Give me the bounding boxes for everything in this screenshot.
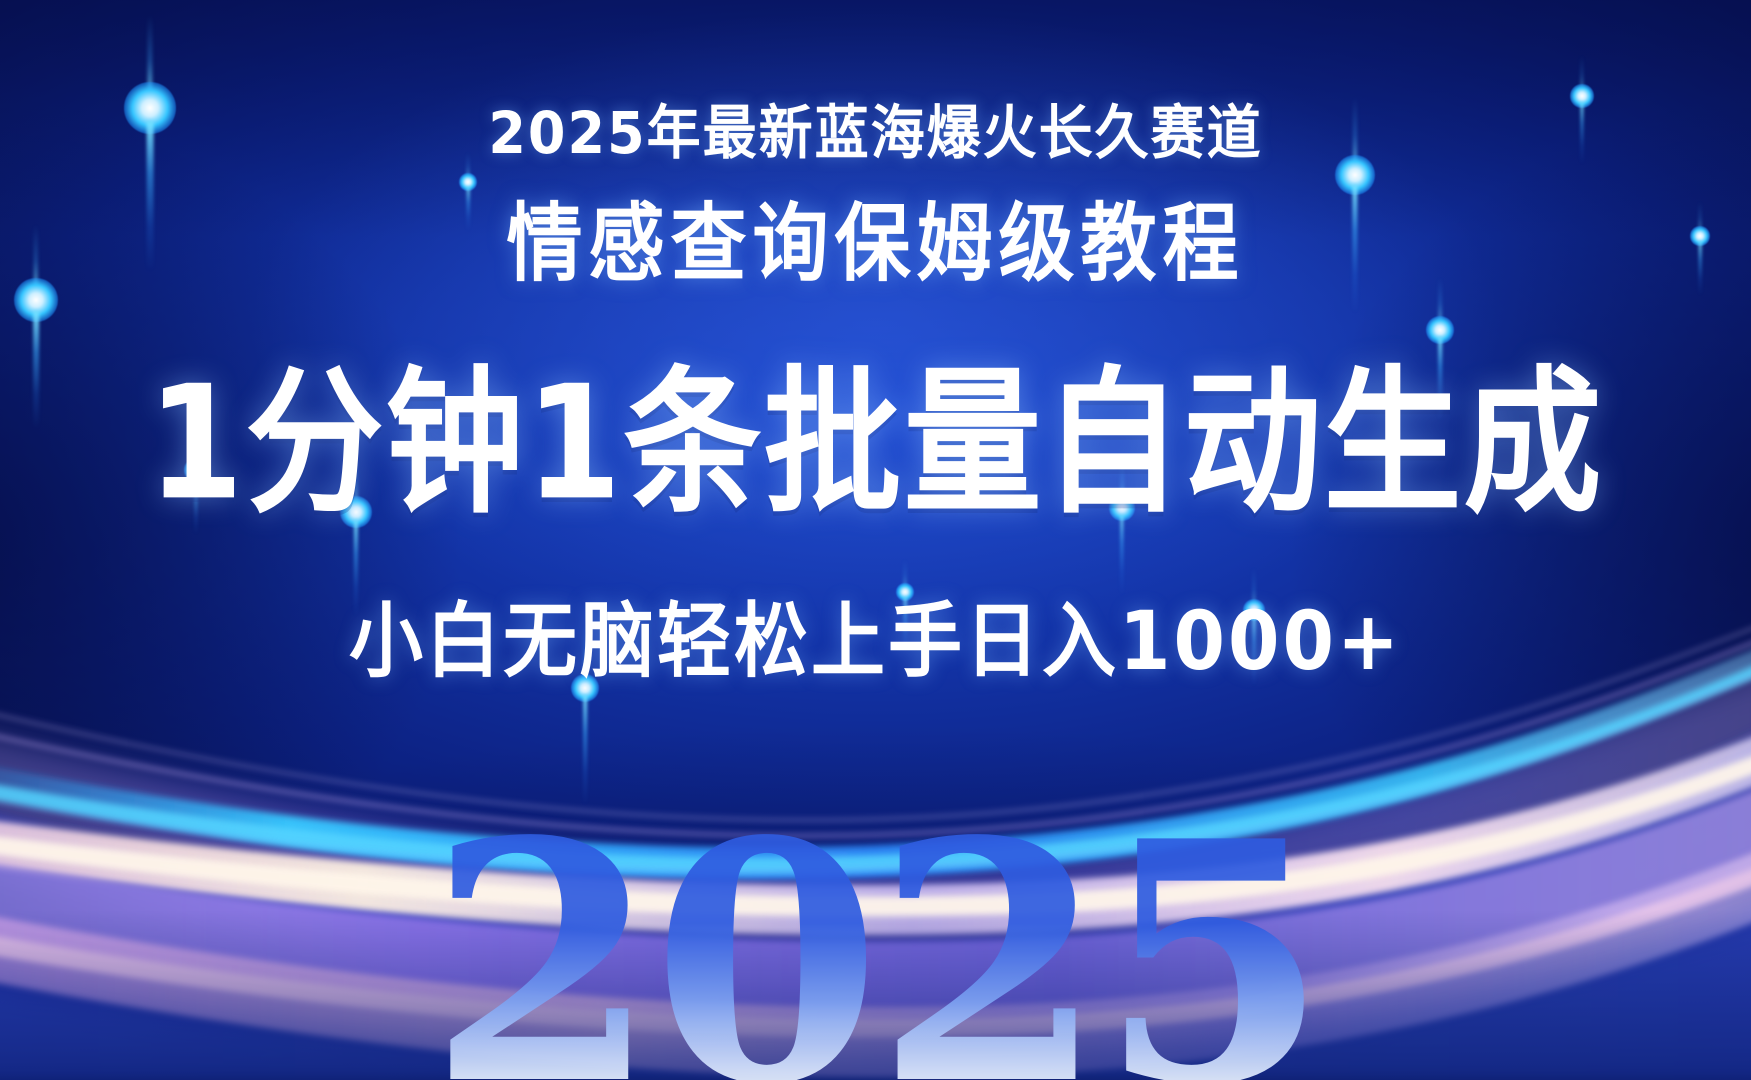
promo-poster: 2025 2025年最新蓝海爆火长久赛道 情感查询保姆级教程 1分钟1条批量自动…: [0, 0, 1751, 1080]
headline-block: 2025年最新蓝海爆火长久赛道 情感查询保姆级教程 1分钟1条批量自动生成 小白…: [0, 0, 1751, 688]
star-tail-down: [583, 695, 587, 805]
tagline-line: 小白无脑轻松上手日入1000+: [0, 576, 1751, 694]
headline-line: 1分钟1条批量自动生成: [0, 315, 1751, 543]
year-watermark: 2025: [0, 798, 1751, 1080]
star-5-glow-icon: [571, 674, 599, 812]
subtitle-line: 情感查询保姆级教程: [0, 174, 1751, 297]
eyebrow-line: 2025年最新蓝海爆火长久赛道: [0, 85, 1751, 170]
